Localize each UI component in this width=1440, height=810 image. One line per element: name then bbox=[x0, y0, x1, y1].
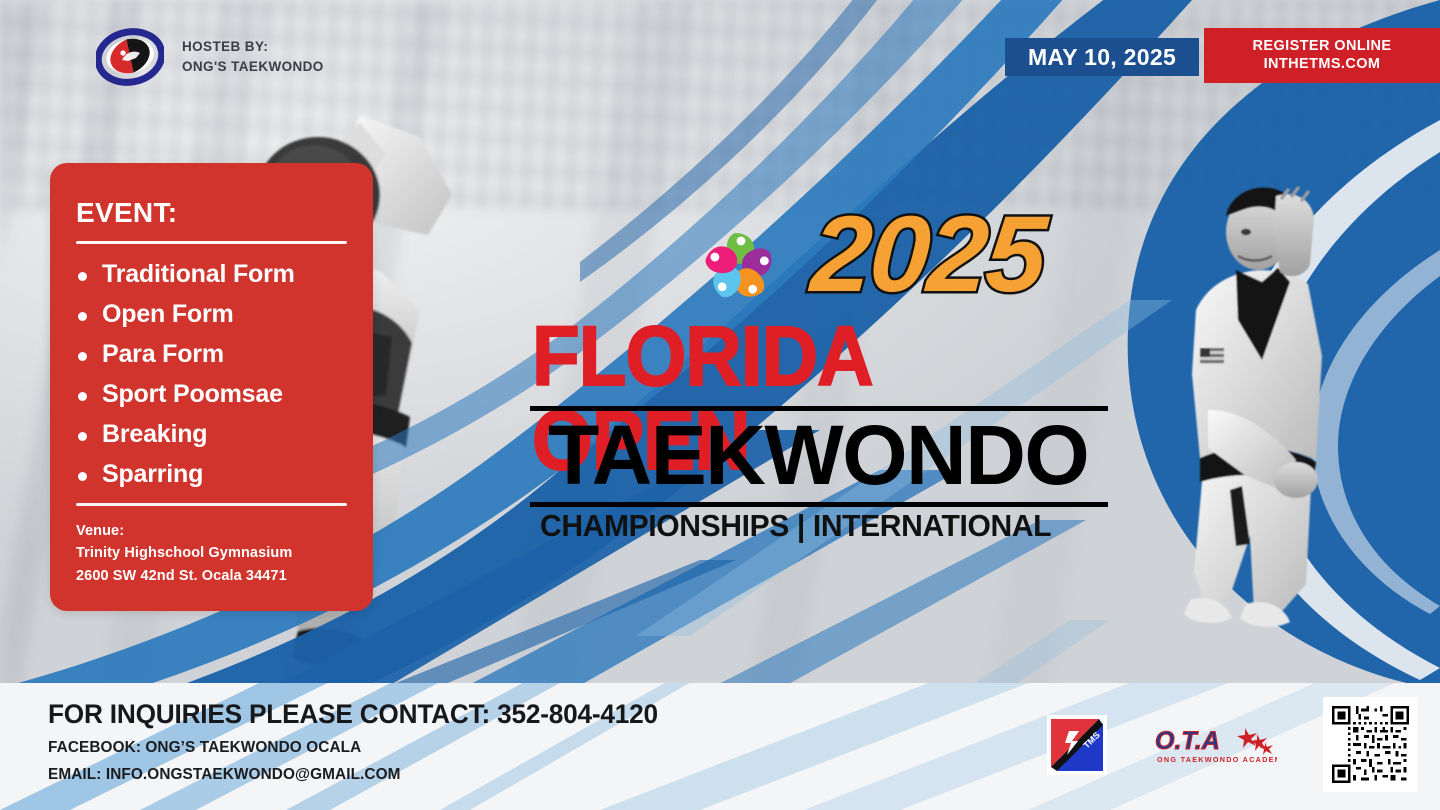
svg-text:ONG TAEKWONDO ACADEMY: ONG TAEKWONDO ACADEMY bbox=[1157, 755, 1277, 764]
event-card-divider-top bbox=[76, 241, 347, 244]
register-line-2: INTHETMS.COM bbox=[1264, 56, 1381, 73]
footer-band: FOR INQUIRIES PLEASE CONTACT: 352-804-41… bbox=[0, 683, 1440, 810]
year-heading: 2025 bbox=[808, 200, 1048, 308]
footer-email-line: EMAIL: INFO.ONGSTAEKWONDO@GMAIL.COM bbox=[48, 766, 652, 784]
list-item: Breaking bbox=[74, 420, 373, 449]
venue-block: Venue: Trinity Highschool Gymnasium 2600… bbox=[76, 520, 373, 589]
register-line-1: REGISTER ONLINE bbox=[1253, 38, 1392, 55]
qr-code-icon[interactable] bbox=[1332, 706, 1409, 783]
list-item: Sparring bbox=[74, 460, 373, 489]
event-list: Traditional Form Open Form Para Form Spo… bbox=[74, 260, 373, 489]
pinwheel-figures-logo-icon bbox=[698, 226, 780, 308]
ongs-taekwondo-oval-logo-icon bbox=[96, 28, 164, 86]
footer-contact-text: FOR INQUIRIES PLEASE CONTACT: 352-804-41… bbox=[48, 699, 677, 784]
footer-facebook-line: FACEBOOK: ONG’S TAEKWONDO OCALA bbox=[48, 739, 652, 757]
title-bar-bottom bbox=[530, 502, 1108, 507]
qr-code-wrapper[interactable] bbox=[1323, 697, 1418, 792]
list-item: Traditional Form bbox=[74, 260, 373, 289]
svg-text:O.T.A: O.T.A bbox=[1155, 727, 1220, 755]
host-name: ONG'S TAEKWONDO bbox=[182, 57, 324, 77]
event-card-heading: EVENT: bbox=[76, 197, 373, 229]
list-item: Sport Poomsae bbox=[74, 380, 373, 409]
title-subtitle: CHAMPIONSHIPS | INTERNATIONAL bbox=[540, 508, 1051, 544]
event-date-chip: MAY 10, 2025 bbox=[1005, 38, 1199, 76]
list-item: Open Form bbox=[74, 300, 373, 329]
list-item: Para Form bbox=[74, 340, 373, 369]
host-text: HOSTEB BY: ONG'S TAEKWONDO bbox=[182, 37, 324, 76]
ota-logo-icon: O.T.A ONG TAEKWONDO ACADEMY bbox=[1153, 722, 1277, 768]
venue-name: Trinity Highschool Gymnasium bbox=[76, 542, 373, 565]
title-line-taekwondo: TAEKWONDO bbox=[548, 410, 1088, 501]
footer-logos: TMS O.T.A ONG TAEKWONDO ACADEMY bbox=[1047, 697, 1418, 792]
poomsae-practitioner-photo bbox=[1150, 160, 1360, 630]
event-card: EVENT: Traditional Form Open Form Para F… bbox=[50, 163, 373, 611]
footer-contact-line: FOR INQUIRIES PLEASE CONTACT: 352-804-41… bbox=[48, 699, 658, 730]
host-label: HOSTEB BY: bbox=[182, 37, 324, 57]
host-block: HOSTEB BY: ONG'S TAEKWONDO bbox=[96, 28, 324, 86]
tms-logo-icon: TMS bbox=[1047, 715, 1107, 775]
event-poster: HOSTEB BY: ONG'S TAEKWONDO MAY 10, 2025 … bbox=[0, 0, 1440, 810]
register-online-chip[interactable]: REGISTER ONLINE INTHETMS.COM bbox=[1204, 28, 1440, 83]
venue-label: Venue: bbox=[76, 520, 373, 543]
event-card-divider-bottom bbox=[76, 503, 347, 506]
event-date-label: MAY 10, 2025 bbox=[1028, 44, 1176, 71]
venue-address: 2600 SW 42nd St. Ocala 34471 bbox=[76, 565, 373, 588]
